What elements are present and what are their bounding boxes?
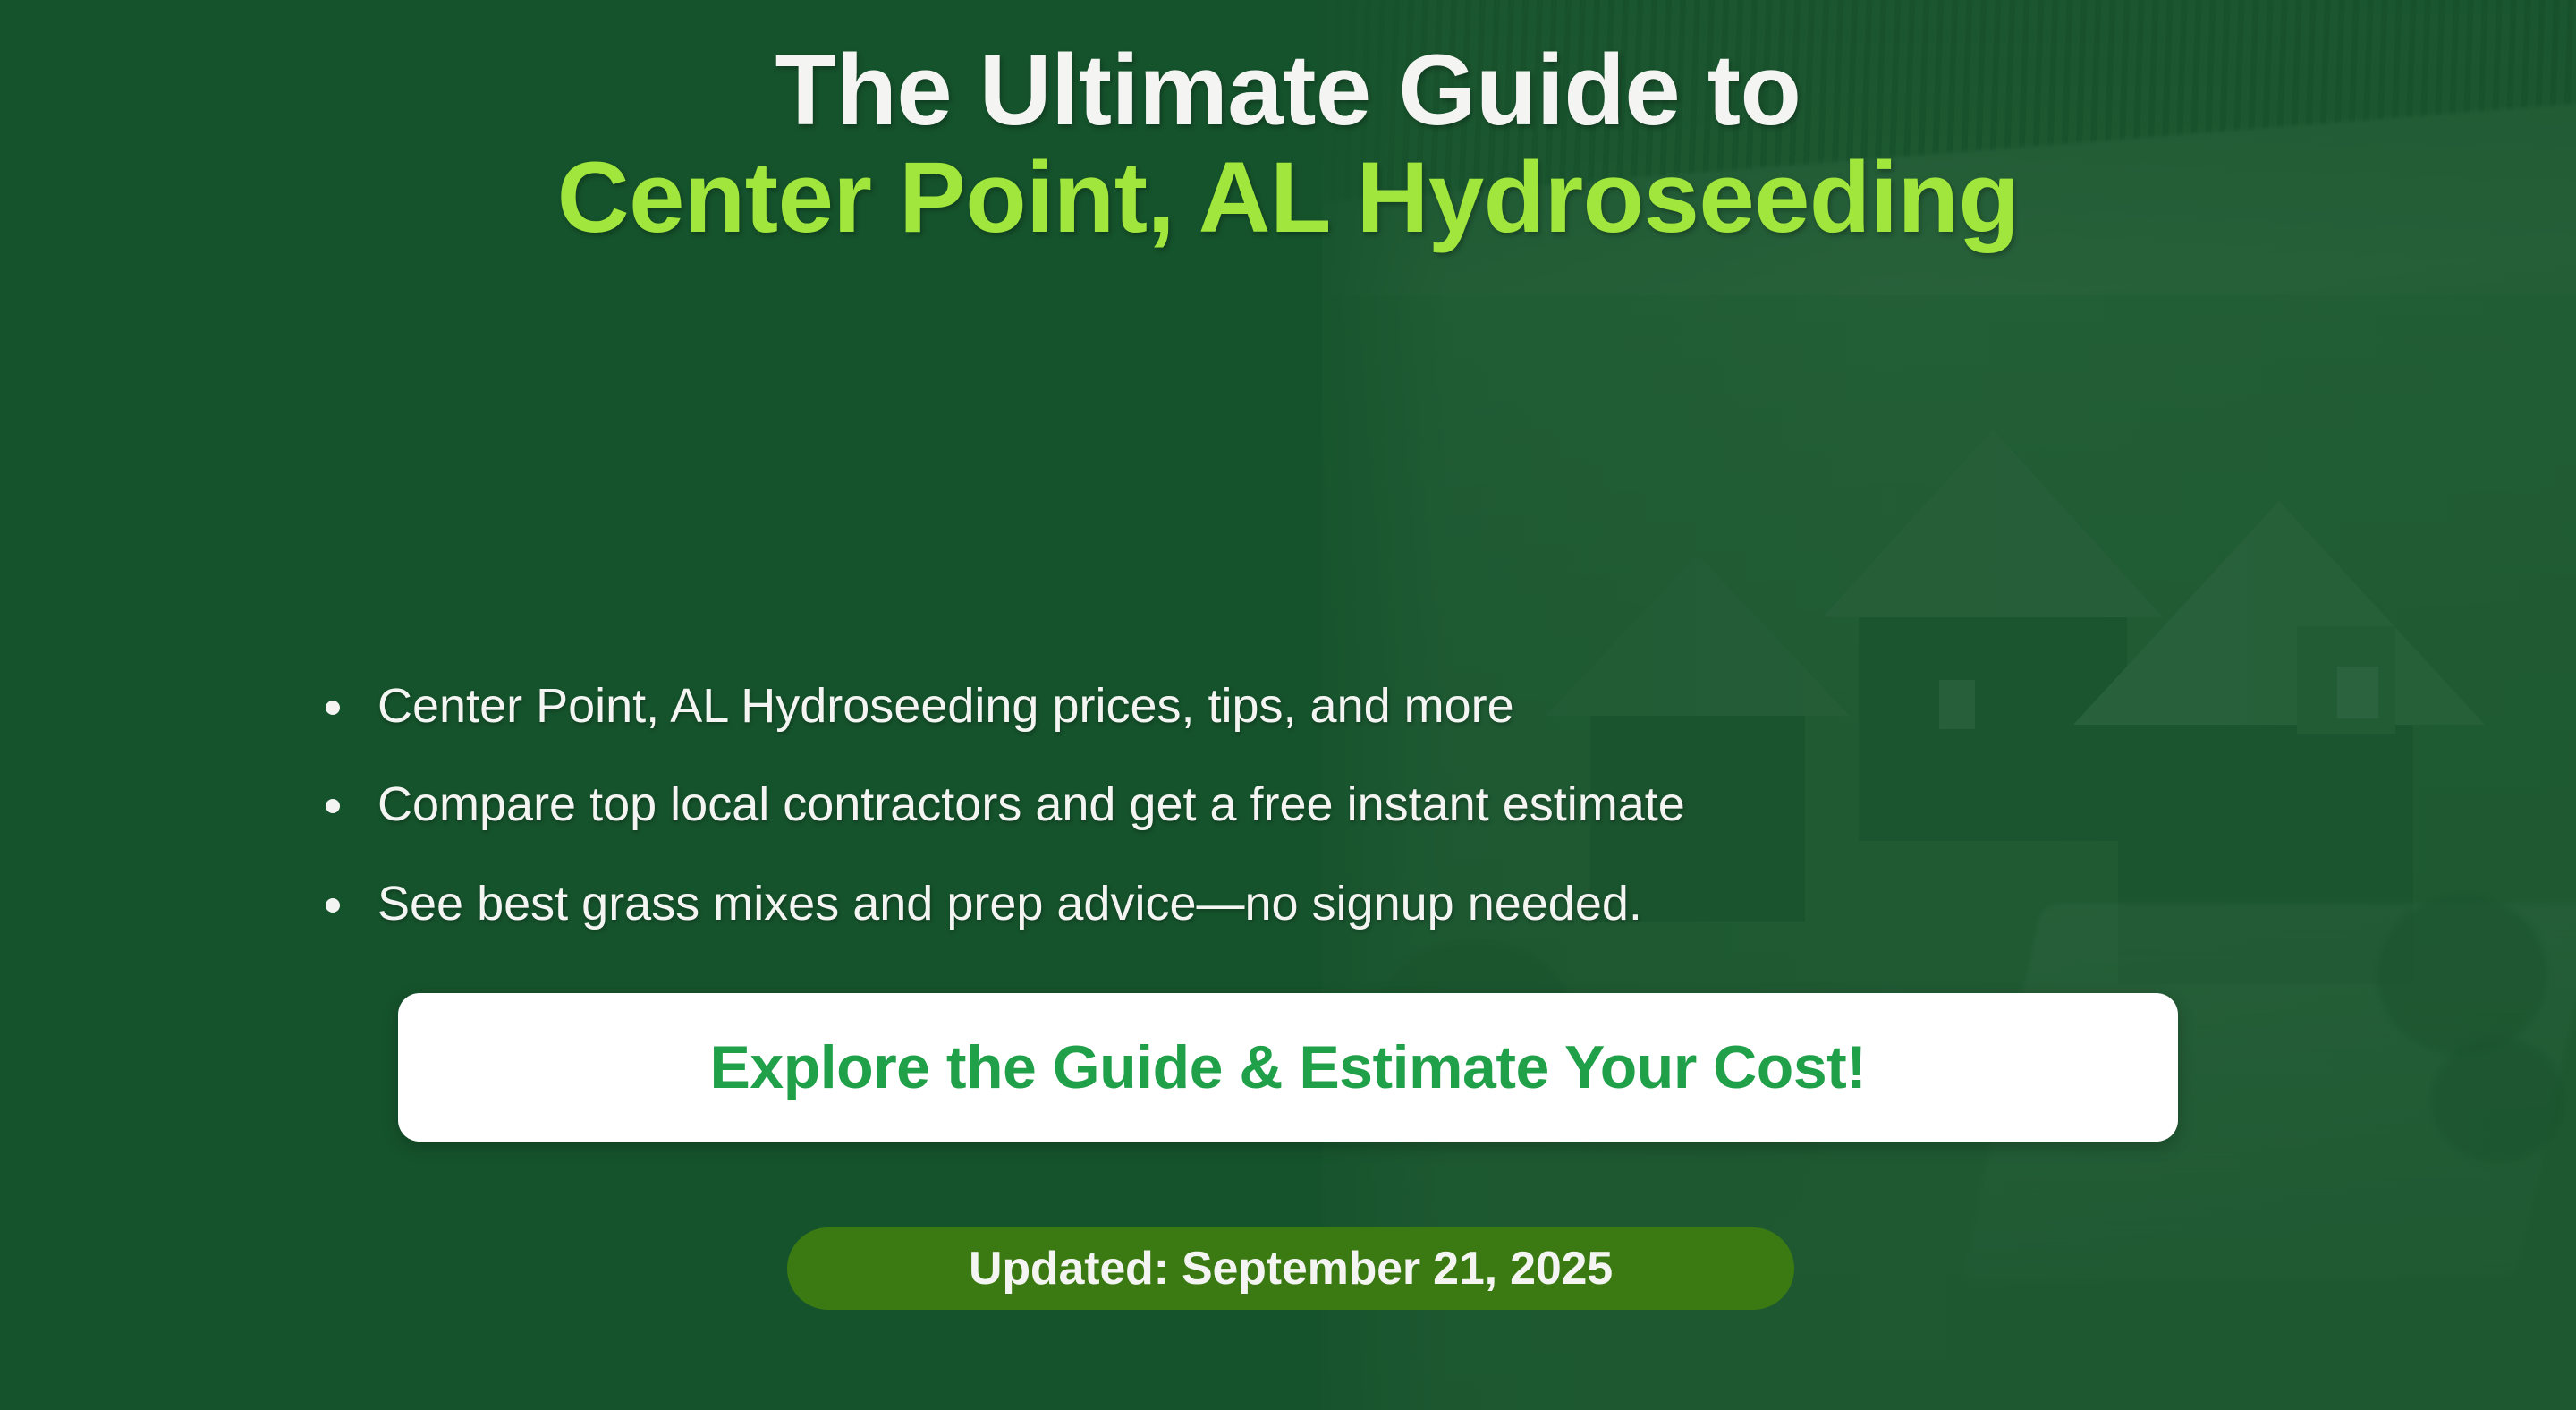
hero-banner: The Ultimate Guide to Center Point, AL H… (0, 0, 2576, 1410)
page-title: The Ultimate Guide to Center Point, AL H… (0, 39, 2576, 249)
updated-date-label: Updated: September 21, 2025 (969, 1242, 1613, 1295)
list-item: Compare top local contractors and get a … (315, 778, 2265, 830)
headline-line-accent: Center Point, AL Hydroseeding (0, 147, 2576, 249)
explore-guide-cta-button[interactable]: Explore the Guide & Estimate Your Cost! (398, 993, 2178, 1142)
list-item-label: Compare top local contractors and get a … (377, 777, 1685, 831)
list-item-label: Center Point, AL Hydroseeding prices, ti… (377, 679, 1514, 733)
feature-bullet-list: Center Point, AL Hydroseeding prices, ti… (315, 680, 2265, 976)
headline-line-primary: The Ultimate Guide to (0, 39, 2576, 141)
bullet-dot-icon (326, 898, 340, 913)
list-item: See best grass mixes and prep advice—no … (315, 878, 2265, 930)
list-item: Center Point, AL Hydroseeding prices, ti… (315, 680, 2265, 732)
bullet-dot-icon (326, 701, 340, 715)
updated-date-badge: Updated: September 21, 2025 (787, 1227, 1794, 1310)
banner-content: The Ultimate Guide to Center Point, AL H… (0, 0, 2576, 1410)
bullet-dot-icon (326, 799, 340, 813)
list-item-label: See best grass mixes and prep advice—no … (377, 877, 1642, 930)
cta-button-label: Explore the Guide & Estimate Your Cost! (710, 1032, 1867, 1102)
